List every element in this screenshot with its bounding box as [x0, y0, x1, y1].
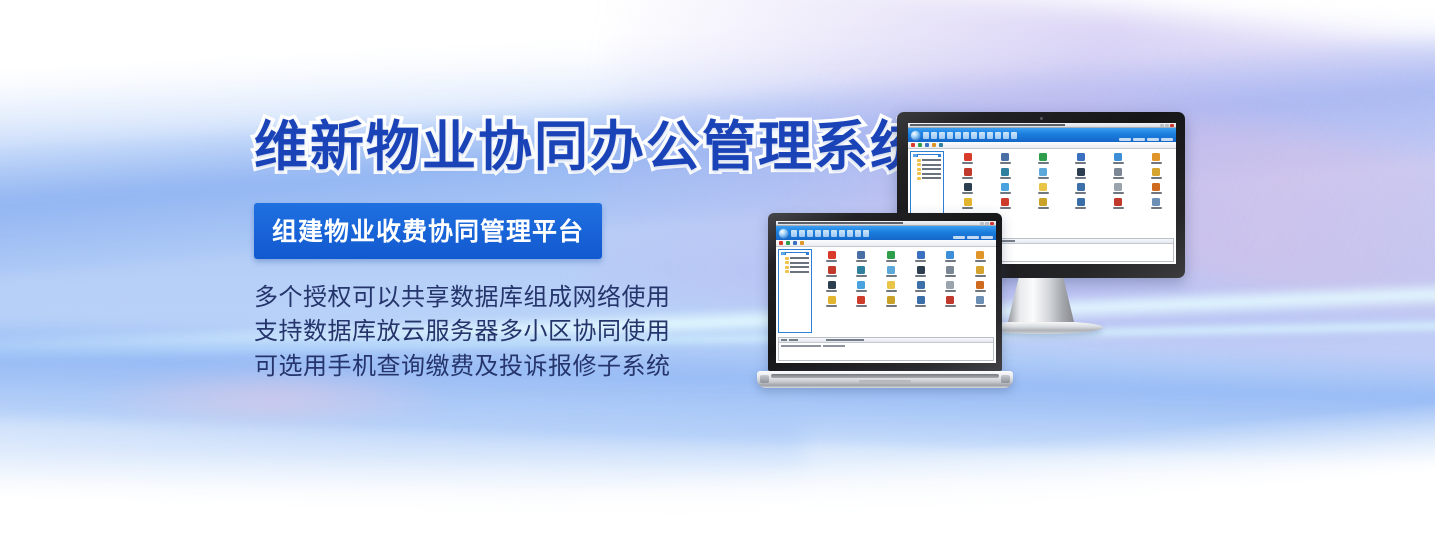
folder-icon: [917, 159, 921, 162]
module-icon-item[interactable]: [907, 251, 935, 262]
column-header: [781, 339, 787, 341]
module-icon: [1039, 198, 1047, 206]
module-icon-item[interactable]: [907, 296, 935, 307]
toolbar-icon[interactable]: [911, 143, 915, 147]
laptop-device: [757, 213, 1013, 388]
monitor-stand-neck: [1008, 278, 1074, 322]
module-icon-item[interactable]: [1138, 168, 1174, 179]
module-icon-label: [1038, 207, 1049, 209]
folder-icon: [785, 270, 789, 273]
module-icon-item[interactable]: [907, 266, 935, 277]
module-icon-item[interactable]: [1063, 183, 1099, 194]
folder-icon: [785, 266, 789, 269]
module-icon: [887, 296, 895, 304]
module-icon-label: [1113, 207, 1124, 209]
module-icon-label: [945, 275, 956, 277]
module-icon-item[interactable]: [966, 281, 994, 292]
header-link[interactable]: [1147, 138, 1159, 141]
module-icon-item[interactable]: [966, 251, 994, 262]
module-icon-label: [886, 275, 897, 277]
module-icon: [828, 296, 836, 304]
menu-item[interactable]: [815, 230, 821, 237]
minimize-button[interactable]: [1160, 124, 1164, 127]
module-icon-label: [826, 260, 837, 262]
app-header-links[interactable]: [953, 236, 993, 239]
app-header-links[interactable]: [1119, 138, 1173, 141]
module-icon: [946, 281, 954, 289]
tree-item-label: [790, 257, 809, 259]
folder-icon: [917, 172, 921, 175]
module-icon: [964, 183, 972, 191]
module-icon-item[interactable]: [1138, 183, 1174, 194]
tree-item[interactable]: [781, 257, 809, 260]
module-icon: [1077, 168, 1085, 176]
tree-item-label: [922, 177, 941, 179]
module-icon: [1001, 153, 1009, 161]
menu-item[interactable]: [799, 230, 805, 237]
module-icon-item[interactable]: [1063, 198, 1099, 209]
module-icon-item[interactable]: [848, 281, 876, 292]
app-titlebar-text: [910, 124, 1160, 126]
header-link[interactable]: [1161, 138, 1173, 141]
tree-item-label: [786, 253, 806, 255]
folder-icon: [917, 177, 921, 180]
module-icon-item[interactable]: [950, 198, 986, 209]
module-icon-label: [915, 305, 926, 307]
module-icon-item[interactable]: [848, 296, 876, 307]
module-icon: [857, 251, 865, 259]
module-icon-grid[interactable]: [818, 251, 994, 307]
folder-icon: [785, 261, 789, 264]
module-icon-item[interactable]: [877, 296, 905, 307]
module-icon: [1114, 168, 1122, 176]
module-icon-label: [962, 177, 973, 179]
module-icon: [828, 251, 836, 259]
module-icon: [828, 281, 836, 289]
table-cell: [823, 345, 845, 347]
module-icon-item[interactable]: [1138, 153, 1174, 164]
app-screenshot-laptop: [776, 221, 996, 363]
module-icon: [964, 168, 972, 176]
maximize-button[interactable]: [1165, 124, 1169, 127]
menu-item[interactable]: [839, 230, 845, 237]
module-icon-label: [1000, 192, 1011, 194]
menu-item[interactable]: [995, 132, 1001, 139]
tree-item[interactable]: [781, 252, 809, 255]
close-button[interactable]: [1170, 124, 1174, 127]
module-icon-label: [1151, 162, 1162, 164]
module-icon-item[interactable]: [950, 168, 986, 179]
laptop-keyboard-slot: [771, 374, 999, 378]
module-icon-item[interactable]: [907, 281, 935, 292]
module-icon-item[interactable]: [1025, 183, 1061, 194]
column-header: [826, 339, 864, 341]
module-icon: [946, 266, 954, 274]
module-icon: [1152, 183, 1160, 191]
header-link[interactable]: [981, 236, 993, 239]
module-icon-label: [915, 290, 926, 292]
tree-item[interactable]: [913, 172, 941, 175]
laptop-screen: [776, 221, 996, 363]
module-icon: [976, 266, 984, 274]
module-icon-label: [945, 305, 956, 307]
module-icon: [1152, 168, 1160, 176]
folder-icon: [917, 168, 921, 171]
module-icon: [1039, 183, 1047, 191]
toolbar-icon[interactable]: [925, 143, 929, 147]
module-icon-item[interactable]: [1101, 198, 1137, 209]
tree-item-label: [790, 262, 809, 264]
module-icon-item[interactable]: [988, 183, 1024, 194]
module-icon-label: [856, 290, 867, 292]
app-body: [776, 247, 996, 335]
menu-item[interactable]: [847, 230, 853, 237]
tree-item-label: [790, 266, 809, 268]
webcam-icon: [1040, 117, 1043, 120]
module-icon: [964, 153, 972, 161]
app-header-bar: [776, 226, 996, 240]
background-sweep-left: [0, 370, 805, 523]
toolbar-icon[interactable]: [779, 241, 783, 245]
tree-item-label: [922, 168, 941, 170]
sidebar-tree[interactable]: [778, 249, 812, 333]
menu-item[interactable]: [863, 230, 869, 237]
module-icon-label: [826, 305, 837, 307]
module-icon-grid[interactable]: [950, 153, 1174, 209]
module-icon: [1152, 153, 1160, 161]
module-icon-item[interactable]: [988, 198, 1024, 209]
module-icon-item[interactable]: [966, 266, 994, 277]
module-icon-item[interactable]: [1063, 168, 1099, 179]
tagline-badge: 组建物业收费协同管理平台: [254, 203, 602, 259]
menu-item[interactable]: [1011, 132, 1017, 139]
module-icon-label: [826, 290, 837, 292]
header-link[interactable]: [1133, 138, 1145, 141]
module-icon: [857, 266, 865, 274]
laptop-lid: [768, 213, 1002, 371]
app-menu-bar[interactable]: [791, 230, 869, 237]
column-header: [789, 339, 798, 341]
module-icon-label: [886, 290, 897, 292]
module-icon-label: [886, 305, 897, 307]
window-controls: [1160, 124, 1174, 127]
module-icon-label: [1151, 177, 1162, 179]
module-icon-label: [1113, 192, 1124, 194]
module-icon-item[interactable]: [1101, 168, 1137, 179]
status-table: [778, 337, 994, 361]
module-icon-label: [975, 290, 986, 292]
menu-item[interactable]: [987, 132, 993, 139]
module-icon-item[interactable]: [937, 281, 965, 292]
menu-item[interactable]: [955, 132, 961, 139]
app-toolbar[interactable]: [908, 142, 1176, 149]
module-icon-label: [856, 260, 867, 262]
promo-banner: 维新物业协同办公管理系统 组建物业收费协同管理平台 多个授权可以共享数据库组成网…: [0, 0, 1435, 538]
module-icon-item[interactable]: [937, 266, 965, 277]
header-link[interactable]: [953, 236, 965, 239]
toolbar-icon[interactable]: [918, 143, 922, 147]
menu-item[interactable]: [807, 230, 813, 237]
module-icon-label: [945, 290, 956, 292]
tree-item[interactable]: [913, 177, 941, 180]
menu-item[interactable]: [939, 132, 945, 139]
module-icon: [917, 281, 925, 289]
module-icon-grid-panel: [814, 247, 996, 335]
module-icon: [857, 281, 865, 289]
module-icon-label: [856, 275, 867, 277]
module-icon-label: [856, 305, 867, 307]
menu-item[interactable]: [971, 132, 977, 139]
folder-icon: [781, 252, 785, 255]
app-header-bar: [908, 128, 1176, 142]
module-icon: [1039, 168, 1047, 176]
laptop-foot-left: [760, 375, 769, 383]
module-icon-label: [1000, 207, 1011, 209]
tree-item[interactable]: [781, 266, 809, 269]
app-titlebar-text: [778, 222, 980, 224]
menu-item[interactable]: [1003, 132, 1009, 139]
toolbar-icon[interactable]: [939, 143, 943, 147]
menu-item[interactable]: [947, 132, 953, 139]
module-icon: [1001, 198, 1009, 206]
table-cell: [781, 345, 821, 347]
module-icon-label: [886, 260, 897, 262]
module-icon-label: [1075, 162, 1086, 164]
module-icon-item[interactable]: [988, 168, 1024, 179]
module-icon: [976, 296, 984, 304]
module-icon: [976, 281, 984, 289]
module-icon-label: [1075, 192, 1086, 194]
tree-item-label: [922, 173, 941, 175]
module-icon: [1152, 198, 1160, 206]
maximize-button[interactable]: [985, 222, 989, 225]
app-logo-icon: [911, 131, 920, 140]
module-icon-item[interactable]: [818, 296, 846, 307]
module-icon-label: [1151, 192, 1162, 194]
module-icon: [887, 281, 895, 289]
module-icon-label: [915, 275, 926, 277]
module-icon-label: [1151, 207, 1162, 209]
app-menu-bar[interactable]: [923, 132, 1017, 139]
header-link[interactable]: [1119, 138, 1131, 141]
module-icon-item[interactable]: [950, 153, 986, 164]
module-icon-label: [945, 260, 956, 262]
module-icon-item[interactable]: [848, 251, 876, 262]
folder-icon: [785, 257, 789, 260]
menu-item[interactable]: [831, 230, 837, 237]
app-toolbar[interactable]: [776, 240, 996, 247]
toolbar-icon[interactable]: [932, 143, 936, 147]
module-icon-label: [975, 260, 986, 262]
toolbar-icon[interactable]: [793, 241, 797, 245]
module-icon: [964, 198, 972, 206]
tree-item[interactable]: [781, 270, 809, 273]
module-icon-label: [1113, 177, 1124, 179]
module-icon-label: [1038, 192, 1049, 194]
module-icon: [946, 296, 954, 304]
menu-item[interactable]: [963, 132, 969, 139]
module-icon: [1114, 153, 1122, 161]
module-icon-item[interactable]: [966, 296, 994, 307]
module-icon: [917, 266, 925, 274]
module-icon-label: [1000, 162, 1011, 164]
module-icon-item[interactable]: [1025, 198, 1061, 209]
tree-item[interactable]: [781, 261, 809, 264]
tree-item-label: [922, 164, 941, 166]
module-icon: [946, 251, 954, 259]
module-icon-item[interactable]: [988, 153, 1024, 164]
module-icon: [917, 296, 925, 304]
tree-item[interactable]: [913, 168, 941, 171]
tree-item-label: [918, 155, 938, 157]
module-icon-item[interactable]: [877, 281, 905, 292]
tree-item[interactable]: [913, 159, 941, 162]
module-icon-label: [962, 162, 973, 164]
window-controls: [980, 222, 994, 225]
module-icon: [1114, 183, 1122, 191]
module-icon: [976, 251, 984, 259]
module-icon-label: [962, 207, 973, 209]
module-icon-item[interactable]: [1101, 183, 1137, 194]
module-icon-item[interactable]: [877, 266, 905, 277]
module-icon-label: [962, 192, 973, 194]
module-icon-label: [1038, 162, 1049, 164]
module-icon-label: [975, 305, 986, 307]
module-icon-label: [975, 275, 986, 277]
module-icon: [1001, 183, 1009, 191]
module-icon-item[interactable]: [877, 251, 905, 262]
header-link[interactable]: [967, 236, 979, 239]
laptop-base: [757, 371, 1013, 388]
module-icon-label: [1113, 162, 1124, 164]
module-icon-item[interactable]: [818, 251, 846, 262]
menu-item[interactable]: [979, 132, 985, 139]
page-title: 维新物业协同办公管理系统: [254, 118, 894, 177]
module-icon-item[interactable]: [1025, 168, 1061, 179]
background-sweep-bottom-2: [568, 376, 1435, 538]
toolbar-icon[interactable]: [800, 241, 804, 245]
table-row[interactable]: [779, 343, 993, 349]
module-icon-label: [826, 275, 837, 277]
module-icon: [828, 266, 836, 274]
module-icon: [857, 296, 865, 304]
module-icon-item[interactable]: [848, 266, 876, 277]
module-icon-item[interactable]: [937, 296, 965, 307]
module-icon: [887, 251, 895, 259]
module-icon-item[interactable]: [937, 251, 965, 262]
module-icon-label: [1000, 177, 1011, 179]
menu-item[interactable]: [823, 230, 829, 237]
module-icon: [1039, 153, 1047, 161]
app-logo-icon: [779, 229, 788, 238]
tree-item-label: [790, 271, 809, 273]
laptop-trackpad: [859, 380, 911, 383]
laptop-foot-right: [1001, 375, 1010, 383]
menu-item[interactable]: [923, 132, 929, 139]
background-sweep-bottom: [0, 404, 1435, 538]
module-icon: [1077, 183, 1085, 191]
module-icon-label: [1075, 177, 1086, 179]
module-icon-item[interactable]: [1138, 198, 1174, 209]
module-icon: [1077, 198, 1085, 206]
module-icon: [917, 251, 925, 259]
module-icon-label: [915, 260, 926, 262]
minimize-button[interactable]: [980, 222, 984, 225]
module-icon-label: [1075, 207, 1086, 209]
close-button[interactable]: [990, 222, 994, 225]
module-icon: [1077, 153, 1085, 161]
module-icon-item[interactable]: [1101, 153, 1137, 164]
folder-icon: [917, 163, 921, 166]
module-icon: [1114, 198, 1122, 206]
tree-item[interactable]: [913, 154, 941, 157]
menu-item[interactable]: [855, 230, 861, 237]
folder-icon: [913, 154, 917, 157]
module-icon-item[interactable]: [818, 281, 846, 292]
menu-item[interactable]: [931, 132, 937, 139]
toolbar-icon[interactable]: [786, 241, 790, 245]
tree-item-label: [922, 159, 941, 161]
menu-item[interactable]: [791, 230, 797, 237]
module-icon-item[interactable]: [818, 266, 846, 277]
module-icon-label: [1038, 177, 1049, 179]
module-icon: [1001, 168, 1009, 176]
module-icon-item[interactable]: [950, 183, 986, 194]
module-icon-item[interactable]: [1025, 153, 1061, 164]
module-icon: [887, 266, 895, 274]
tree-item[interactable]: [913, 163, 941, 166]
module-icon-item[interactable]: [1063, 153, 1099, 164]
